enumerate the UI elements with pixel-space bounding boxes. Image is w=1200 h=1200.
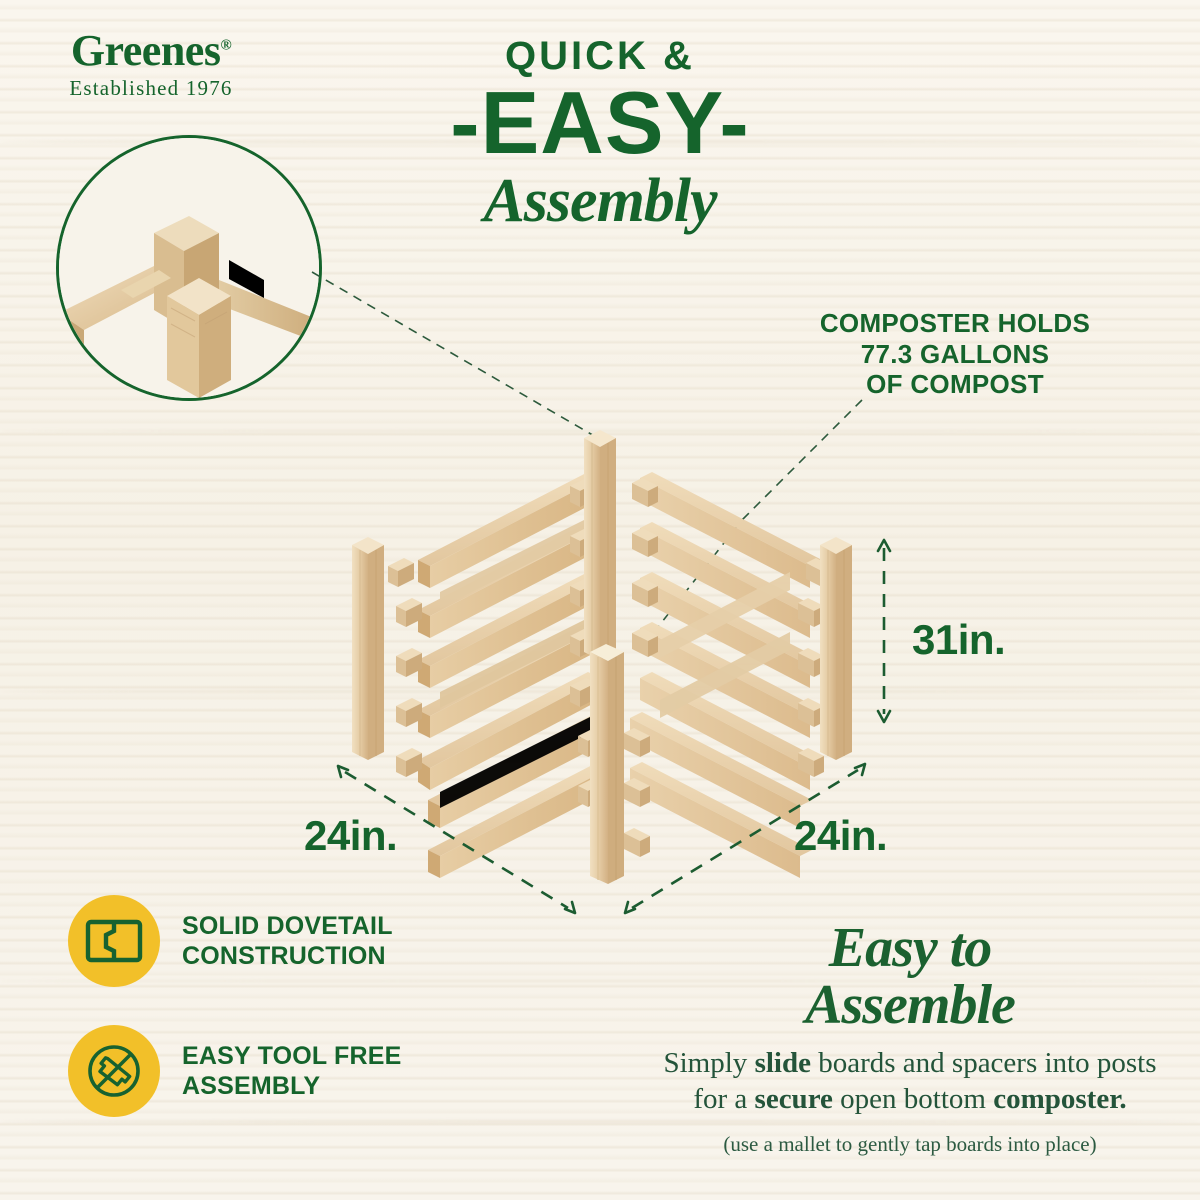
feature-easy-tool-free-assembly: EASY TOOL FREE ASSEMBLY [68, 1025, 402, 1117]
post-left [352, 537, 384, 760]
wood-grain-streak [0, 430, 1200, 432]
dimension-label-height: 31in. [912, 616, 1005, 664]
dimension-label-width-right: 24in. [794, 812, 887, 860]
brand-wordmark: Greenes [71, 26, 221, 75]
registered-mark: ® [220, 37, 231, 53]
easy-to-assemble-block: Easy to Assemble Simply slide boards and… [660, 920, 1160, 1157]
feature-solid-dovetail-construction: SOLID DOVETAIL CONSTRUCTION [68, 895, 393, 987]
body-bold-slide: slide [755, 1047, 811, 1079]
dovetail-joint-closeup-icon [59, 138, 319, 398]
left-face-slats [418, 472, 610, 878]
post-front [590, 644, 624, 884]
leader-line-gallons [640, 400, 862, 650]
infographic-canvas: Greenes® Established 1976 QUICK & -EASY-… [0, 0, 1200, 1200]
no-tools-icon [83, 1040, 145, 1102]
headline-line-3: Assembly [330, 170, 870, 232]
dimension-label-width-left: 24in. [304, 812, 397, 860]
feature-label: SOLID DOVETAIL CONSTRUCTION [182, 911, 393, 971]
mallet-note: (use a mallet to gently tap boards into … [660, 1132, 1160, 1157]
headline-line-2: -EASY- [330, 78, 870, 168]
wood-grain-streak [0, 690, 1200, 693]
dovetail-icon [84, 911, 144, 971]
brand-logo: Greenes® Established 1976 [36, 30, 266, 101]
spacer-blocks [388, 478, 832, 857]
dovetail-icon-badge [68, 895, 160, 987]
body-part-3: open bottom [833, 1083, 993, 1115]
post-back [584, 430, 616, 660]
easy-body-text: Simply slide boards and spacers into pos… [660, 1046, 1160, 1118]
body-bold-composter: composter. [993, 1083, 1126, 1115]
body-part-1: Simply [664, 1047, 755, 1079]
established-text: Established 1976 [36, 76, 266, 101]
headline-line-1: QUICK & [330, 36, 870, 76]
headline: QUICK & -EASY- Assembly [330, 36, 870, 232]
post-right [820, 537, 852, 760]
easy-script-line-1: Easy to [660, 920, 1160, 977]
leader-line-dovetail [312, 272, 596, 437]
gallons-callout: COMPOSTER HOLDS 77.3 GALLONS OF COMPOST [790, 308, 1120, 400]
brand-name: Greenes® [71, 30, 231, 72]
no-tools-icon-badge [68, 1025, 160, 1117]
feature-label: EASY TOOL FREE ASSEMBLY [182, 1041, 402, 1101]
dovetail-closeup-inset [56, 135, 322, 401]
body-bold-secure: secure [755, 1083, 833, 1115]
easy-script-line-2: Assemble [660, 977, 1160, 1034]
